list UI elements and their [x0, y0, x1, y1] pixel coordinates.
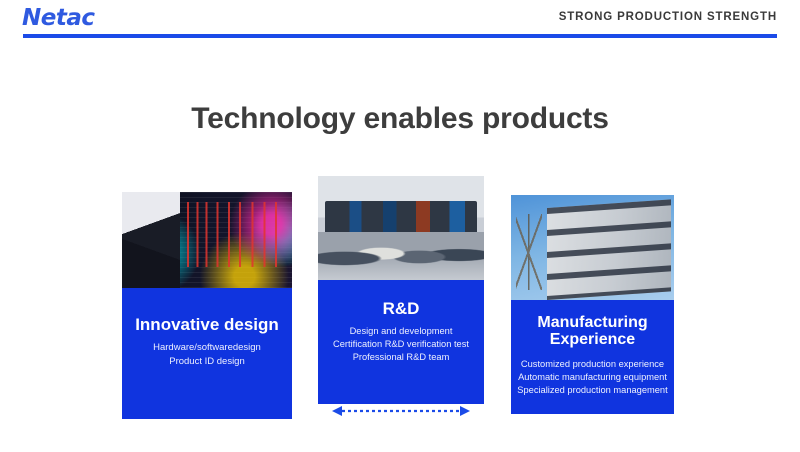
card-rd[interactable]: R&D Design and development Certification…	[318, 176, 484, 404]
dashed-double-arrow-icon	[330, 404, 472, 418]
card-bullet: Certification R&D verification test	[318, 338, 484, 351]
card-innovative-design[interactable]: Innovative design Hardware/softwaredesig…	[122, 192, 292, 419]
card-photo-manufacturing-experience	[511, 195, 674, 300]
card-body-innovative-design: Innovative design Hardware/softwaredesig…	[122, 288, 292, 419]
card-body-rd: R&D Design and development Certification…	[318, 280, 484, 404]
netac-logo: Netac	[22, 5, 95, 31]
card-bullet: Product ID design	[122, 355, 292, 368]
card-body-manufacturing-experience: Manufacturing Experience Customized prod…	[511, 300, 674, 414]
card-bullets-innovative-design: Hardware/softwaredesign Product ID desig…	[122, 341, 292, 368]
card-manufacturing-experience[interactable]: Manufacturing Experience Customized prod…	[511, 195, 674, 414]
card-bullet: Hardware/softwaredesign	[122, 341, 292, 354]
card-bullet: Specialized production management	[511, 384, 674, 397]
header-divider-rule	[23, 34, 777, 38]
card-photo-rd	[318, 176, 484, 280]
card-bullet: Customized production experience	[511, 358, 674, 371]
header-tagline: STRONG PRODUCTION STRENGTH	[559, 11, 777, 23]
card-bullets-manufacturing-experience: Customized production experience Automat…	[511, 358, 674, 398]
card-bullets-rd: Design and development Certification R&D…	[318, 325, 484, 365]
engineers-at-monitors-photo-icon	[318, 176, 484, 280]
factory-building-photo-icon	[511, 195, 674, 300]
card-bullet: Automatic manufacturing equipment	[511, 371, 674, 384]
card-heading-innovative-design: Innovative design	[122, 288, 292, 334]
slide-header: Netac STRONG PRODUCTION STRENGTH	[0, 0, 800, 44]
tech-abstract-photo-icon	[122, 192, 292, 288]
card-photo-innovative-design	[122, 192, 292, 288]
card-heading-rd: R&D	[318, 280, 484, 318]
page-title: Technology enables products	[0, 102, 800, 136]
card-heading-manufacturing-experience: Manufacturing Experience	[511, 300, 674, 349]
card-bullet: Professional R&D team	[318, 351, 484, 364]
card-bullet: Design and development	[318, 325, 484, 338]
